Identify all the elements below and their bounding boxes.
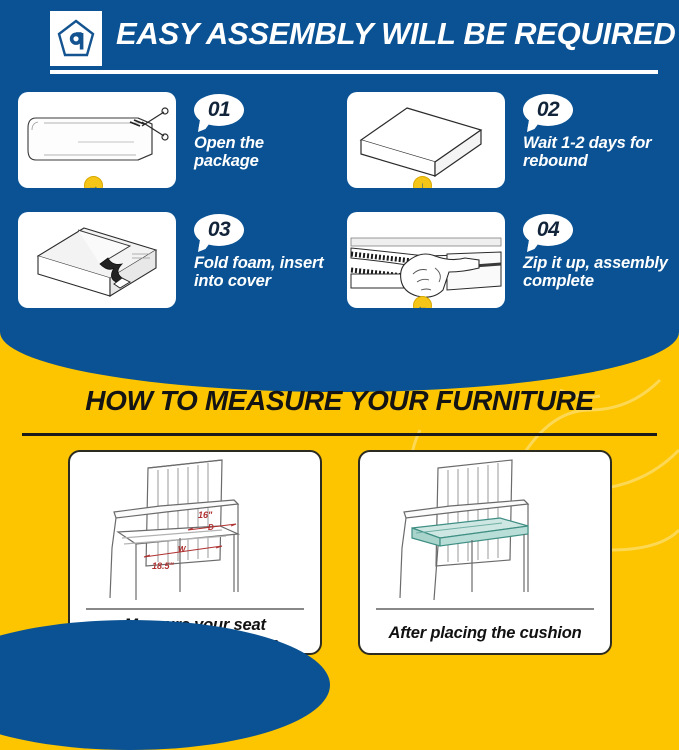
step-01-number: 01 [194, 94, 244, 126]
panel-divider [86, 608, 304, 610]
measure-panel-cushion: After placing the cushion [358, 450, 612, 655]
step-02-label: Wait 1-2 days for rebound [523, 134, 679, 171]
cushion-panel-caption: After placing the cushion [360, 624, 610, 643]
measure-section-title: HOW TO MEASURE YOUR FURNITURE [0, 385, 679, 417]
step-01-illustration: → [18, 92, 176, 188]
panel-divider [376, 608, 594, 610]
house-logo-icon [50, 11, 102, 66]
arrow-glyph: → [88, 180, 100, 189]
arrow-left-badge: ← [413, 296, 432, 308]
step-02-illustration: ↓ [347, 92, 505, 188]
dim-depth-value: 16" [198, 510, 213, 520]
section-header: EASY ASSEMBLY WILL BE REQUIRED [0, 0, 679, 78]
dim-depth-axis: D [208, 523, 214, 532]
chair-with-dimension-callouts-icon: 16" D W 18.5" [70, 452, 320, 607]
step-04-illustration: ← [347, 212, 505, 308]
header-divider [50, 70, 658, 74]
step-03-illustration [18, 212, 176, 308]
assembly-section: EASY ASSEMBLY WILL BE REQUIRED [0, 0, 679, 392]
measure-title-divider [22, 433, 657, 436]
arrow-down-badge: ↓ [413, 176, 432, 188]
arrow-glyph: ↓ [420, 180, 426, 189]
dim-width-value: 18.5" [152, 561, 175, 571]
step-03: 03 Fold foam, insert into cover [18, 212, 338, 312]
step-01: → 01 Open the package [18, 92, 338, 192]
arrow-glyph: ← [417, 300, 429, 309]
page-title: EASY ASSEMBLY WILL BE REQUIRED [116, 16, 675, 52]
step-04-number: 04 [523, 214, 573, 246]
step-04: ← 04 Zip it up, assembly complete [347, 212, 667, 312]
step-02-number: 02 [523, 94, 573, 126]
step-02: ↓ 02 Wait 1-2 days for rebound [347, 92, 667, 192]
step-03-number: 03 [194, 214, 244, 246]
chair-with-seat-cushion-icon [360, 452, 610, 607]
arrow-right-badge: → [84, 176, 103, 188]
step-03-label: Fold foam, insert into cover [194, 254, 354, 291]
step-04-label: Zip it up, assembly complete [523, 254, 679, 291]
step-01-label: Open the package [194, 134, 344, 171]
